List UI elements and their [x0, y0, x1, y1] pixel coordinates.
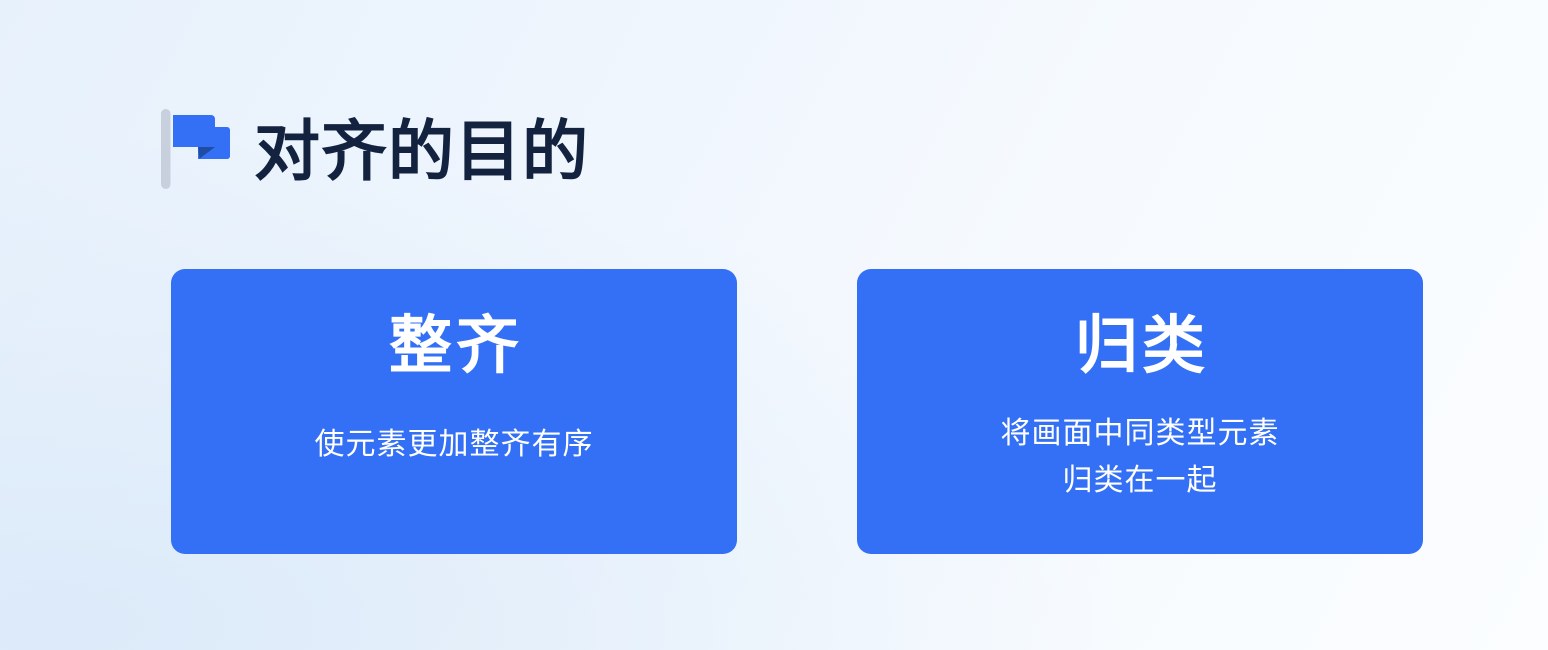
- page-title: 对齐的目的: [254, 118, 589, 184]
- flag-icon: [158, 107, 232, 191]
- card-heading: 归类: [1071, 313, 1209, 379]
- card-description: 使元素更加整齐有序: [315, 421, 594, 468]
- card-description: 将画面中同类型元素 归类在一起: [1001, 410, 1280, 504]
- slide-header: 对齐的目的: [158, 103, 589, 195]
- card-zhengqi[interactable]: 整齐 使元素更加整齐有序: [171, 269, 737, 554]
- slide-canvas: 对齐的目的 整齐 使元素更加整齐有序 归类 将画面中同类型元素 归类在一起: [0, 0, 1548, 650]
- card-heading: 整齐: [385, 313, 523, 379]
- card-group: 整齐 使元素更加整齐有序 归类 将画面中同类型元素 归类在一起: [171, 269, 1423, 554]
- card-guilei[interactable]: 归类 将画面中同类型元素 归类在一起: [857, 269, 1423, 554]
